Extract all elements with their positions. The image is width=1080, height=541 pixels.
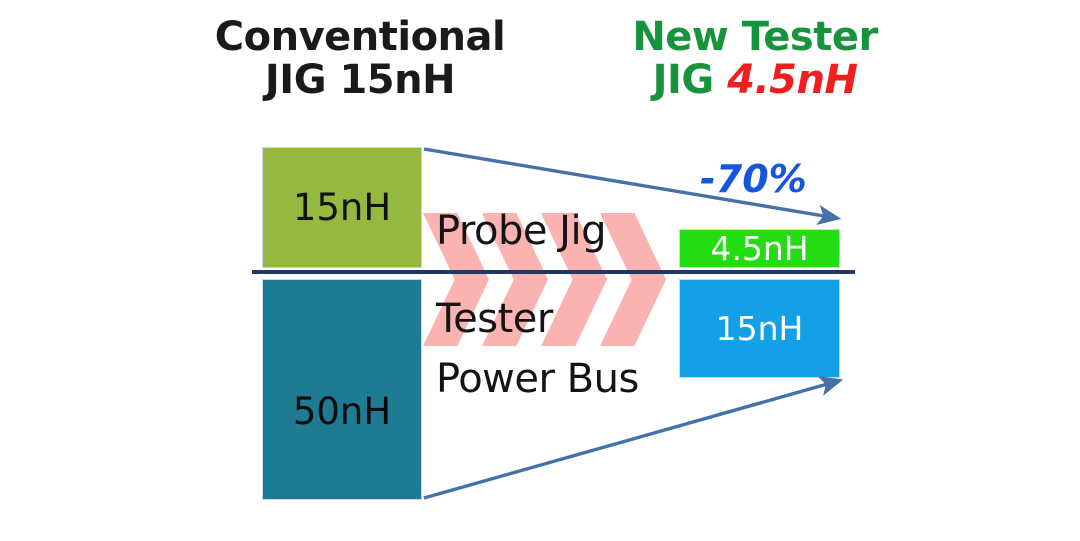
- bar-new-power-bus: 15nH: [679, 279, 840, 378]
- heading-new-tester-line2: JIG 4.5nH: [575, 59, 935, 102]
- bar-new-probe-jig: 4.5nH: [679, 229, 840, 268]
- heading-conventional-line1: Conventional: [170, 16, 550, 59]
- bar-new-power-bus-label: 15nH: [716, 309, 804, 348]
- heading-conventional-line2: JIG 15nH: [170, 59, 550, 102]
- baseline-divider: [252, 270, 855, 274]
- chevron-arrow-icon: [600, 213, 666, 346]
- bar-new-probe-jig-label: 4.5nH: [710, 229, 808, 268]
- slide-canvas: Conventional JIG 15nH New Tester JIG 4.5…: [0, 0, 1080, 541]
- delta-callout-label: -70%: [700, 157, 807, 201]
- bar-conventional-power-bus-label: 50nH: [293, 390, 391, 433]
- heading-new-tester-jig: JIG: [653, 57, 728, 103]
- label-tester: Tester: [436, 296, 553, 342]
- label-probe-jig: Probe Jig: [436, 208, 606, 254]
- bar-conventional-probe-jig-label: 15nH: [293, 186, 391, 229]
- label-power-bus: Power Bus: [436, 356, 639, 402]
- heading-new-tester: New Tester JIG 4.5nH: [575, 16, 935, 102]
- heading-new-tester-line1: New Tester: [575, 16, 935, 59]
- bar-conventional-power-bus: 50nH: [262, 279, 422, 500]
- heading-conventional: Conventional JIG 15nH: [170, 16, 550, 102]
- bar-conventional-probe-jig: 15nH: [262, 147, 422, 268]
- heading-new-tester-value: 4.5nH: [727, 57, 857, 103]
